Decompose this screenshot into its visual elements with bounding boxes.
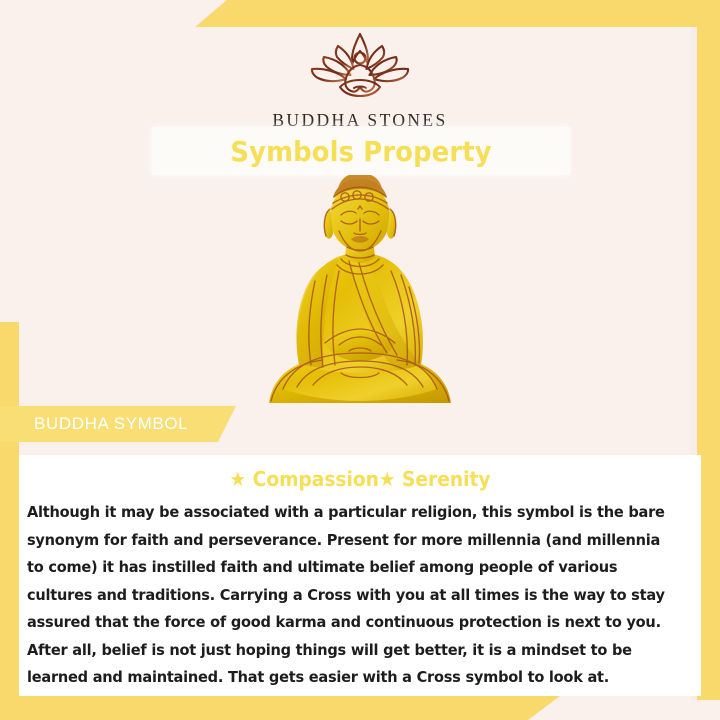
content-card: ★ Compassion★ Serenity Although it may b… bbox=[19, 455, 701, 696]
lotus-meditation-icon bbox=[301, 26, 419, 102]
decor-left-yellow-band bbox=[0, 322, 19, 696]
decor-bottom-yellow-band bbox=[0, 696, 560, 720]
content-subheading: ★ Compassion★ Serenity bbox=[43, 468, 677, 490]
seated-golden-buddha-illustration bbox=[253, 175, 467, 413]
symbol-ribbon: BUDDHA SYMBOL bbox=[0, 406, 236, 442]
content-paragraph: Although it may be associated with a par… bbox=[27, 499, 670, 692]
decor-top-yellow-band bbox=[195, 0, 720, 27]
poster-canvas: BUDDHA STONES Symbols Property bbox=[0, 0, 720, 720]
brand-header: BUDDHA STONES bbox=[0, 26, 720, 131]
title-banner: Symbols Property bbox=[152, 127, 570, 175]
page-title: Symbols Property bbox=[230, 135, 491, 168]
symbol-ribbon-label: BUDDHA SYMBOL bbox=[34, 414, 188, 434]
